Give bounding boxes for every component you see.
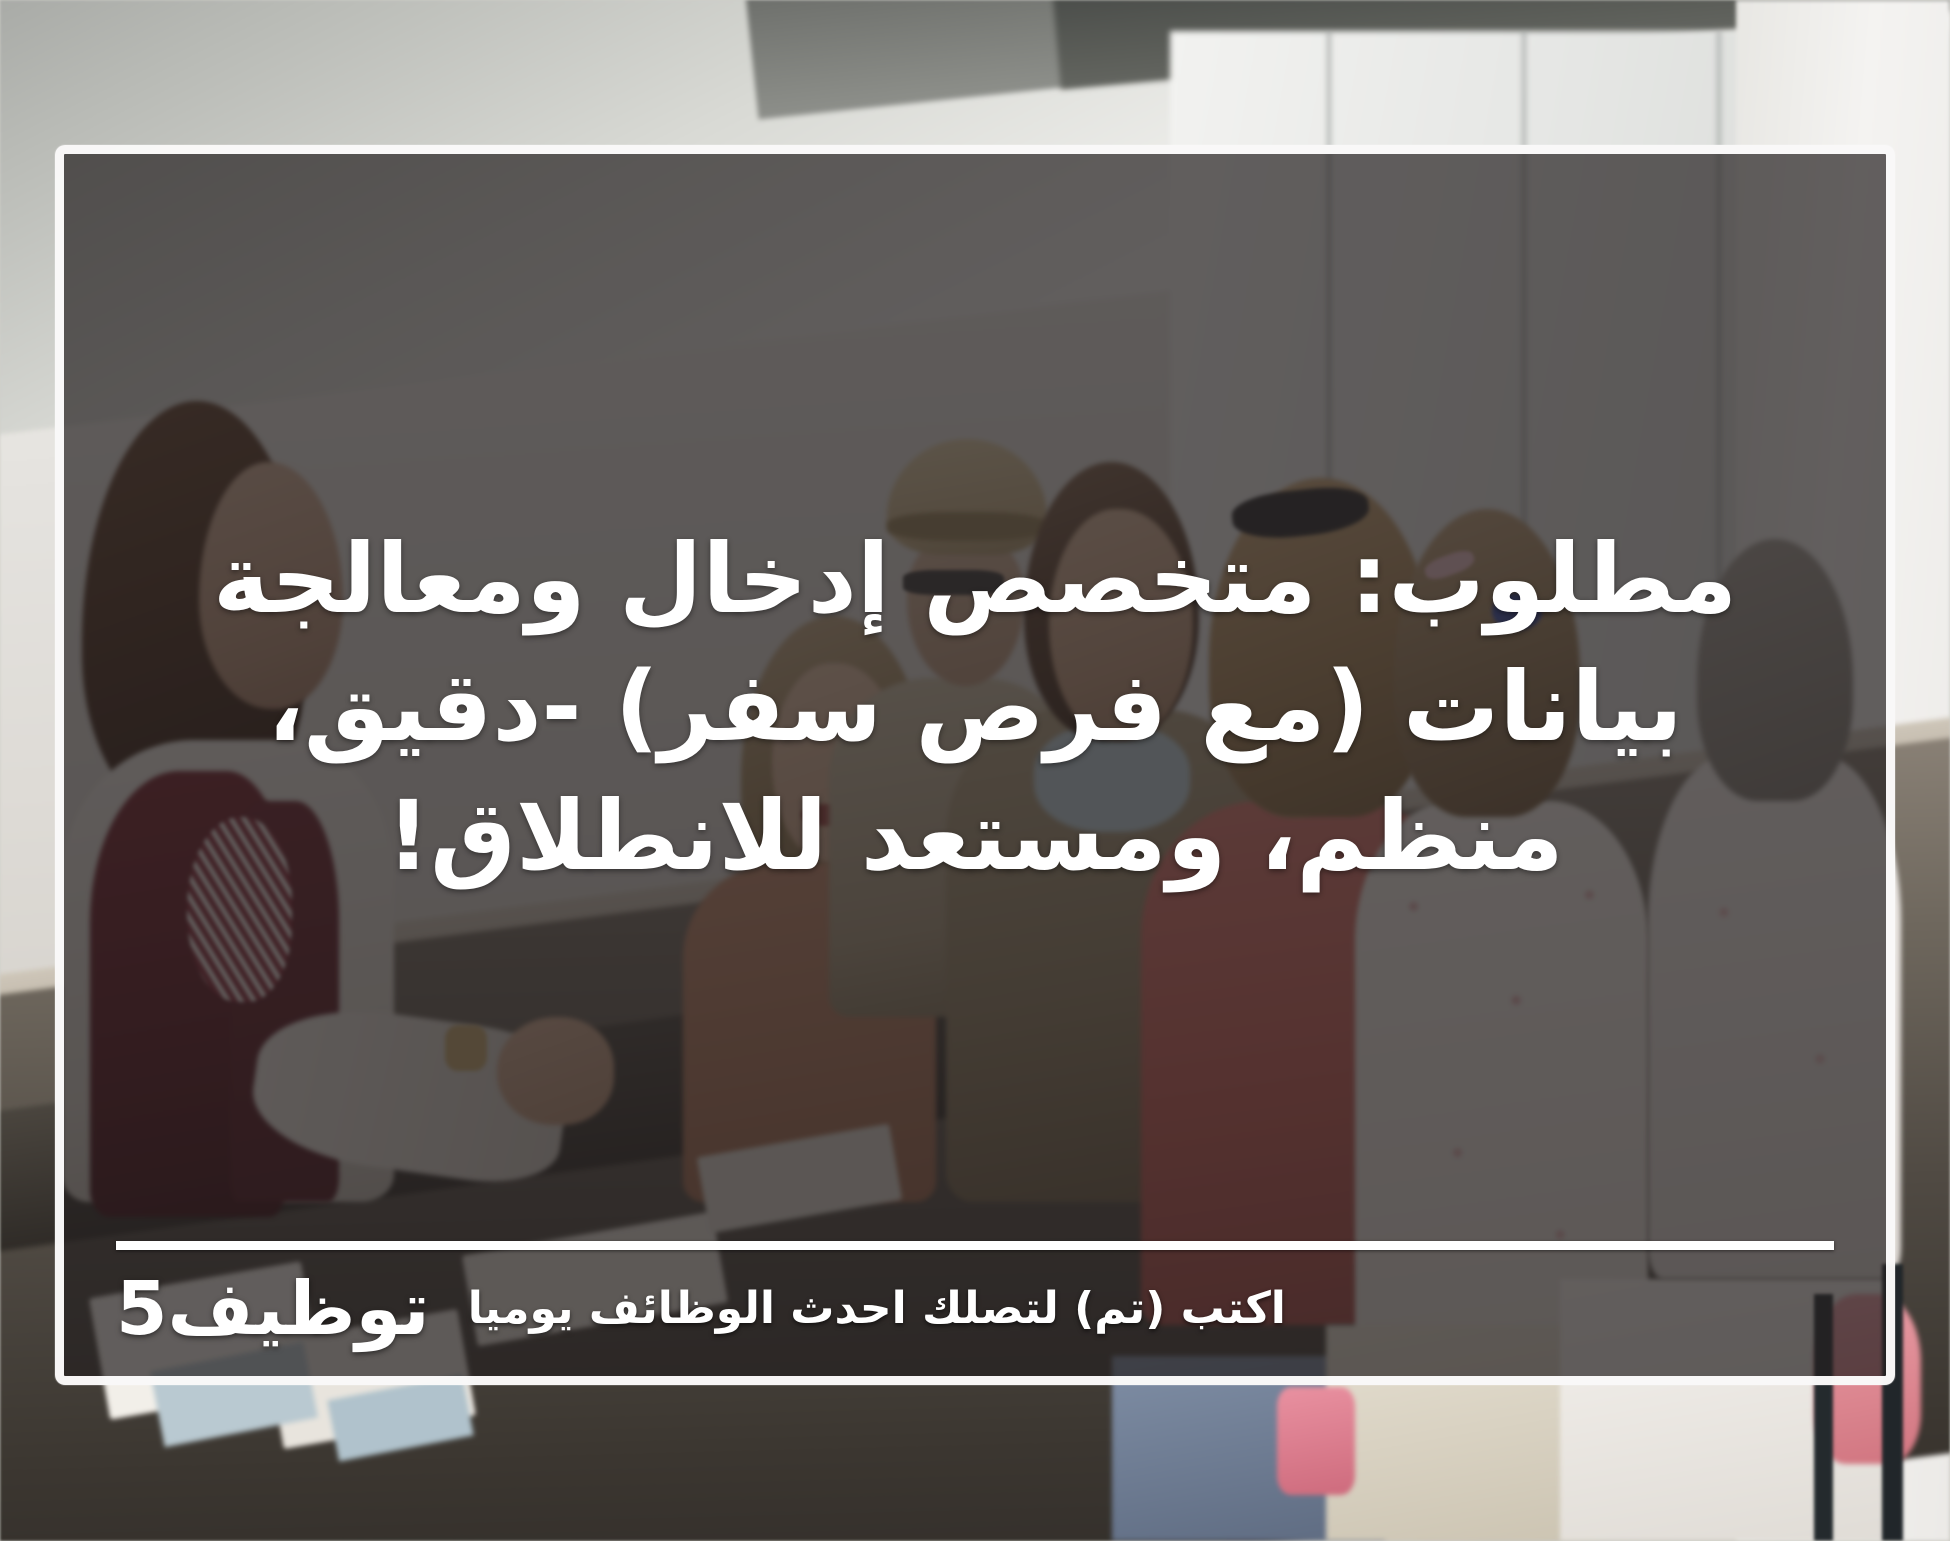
brand-word: توظيف <box>168 1272 430 1346</box>
brand-logo: 5توظيف <box>116 1272 430 1346</box>
brand-number: 5 <box>116 1272 168 1346</box>
footer-divider <box>116 1241 1834 1250</box>
footer-row: 5توظيف اكتب (تم) لتصلك احدث الوظائف يومي… <box>116 1272 1834 1346</box>
poster-card: مطلوب: متخصص إدخال ومعالجة بيانات (مع فر… <box>55 145 1895 1385</box>
job-headline: مطلوب: متخصص إدخال ومعالجة بيانات (مع فر… <box>110 515 1840 901</box>
foreground-bag <box>1277 1387 1355 1495</box>
poster-canvas: مطلوب: متخصص إدخال ومعالجة بيانات (مع فر… <box>0 0 1950 1541</box>
headline-container: مطلوب: متخصص إدخال ومعالجة بيانات (مع فر… <box>64 154 1886 1241</box>
footer-tagline: اكتب (تم) لتصلك احدث الوظائف يوميا <box>468 1287 1286 1331</box>
poster-footer: 5توظيف اكتب (تم) لتصلك احدث الوظائف يومي… <box>64 1241 1886 1376</box>
